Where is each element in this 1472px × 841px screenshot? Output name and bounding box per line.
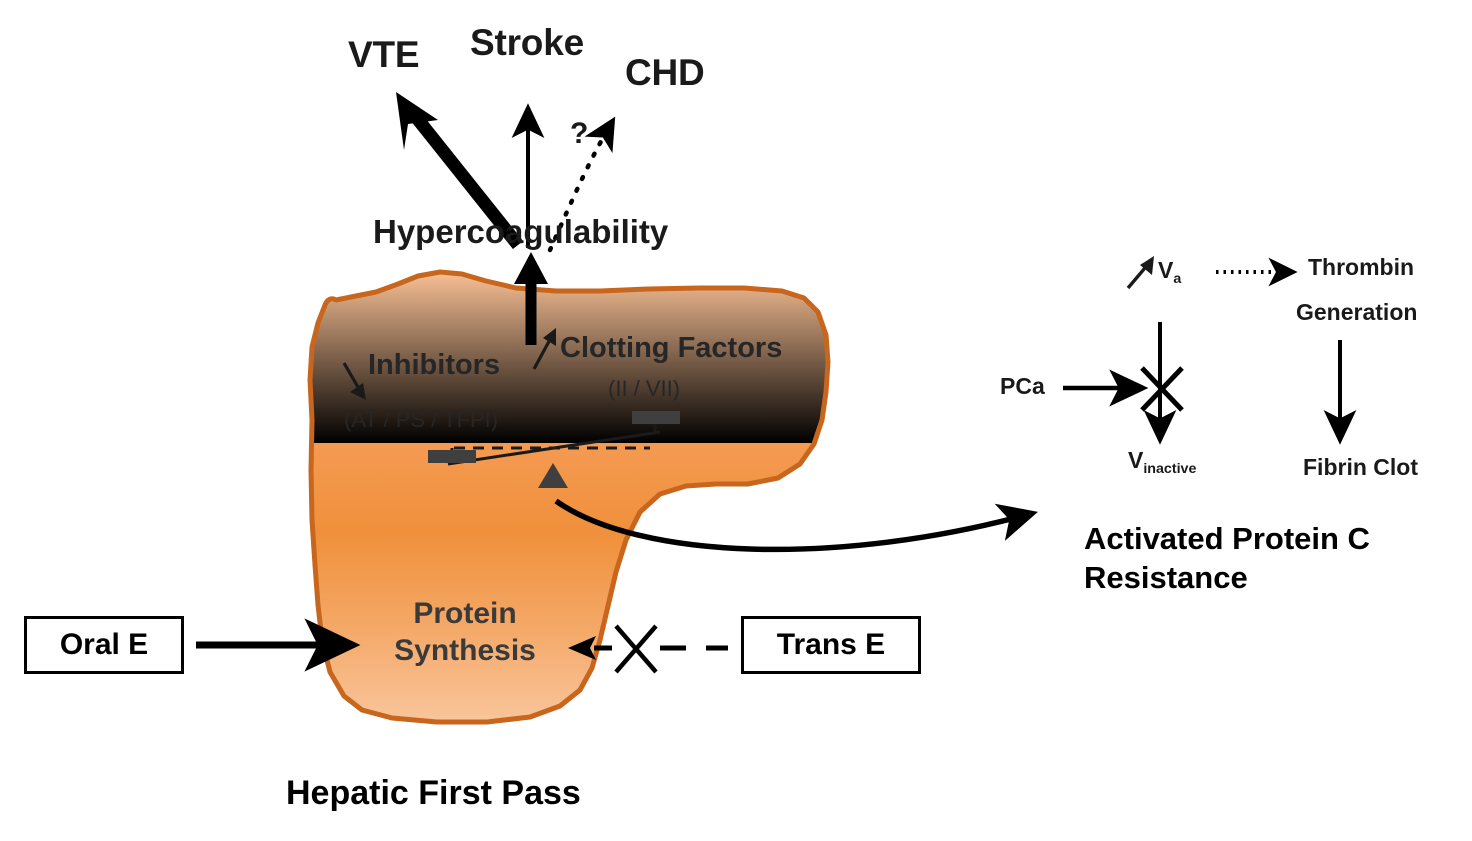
arrow-pca-to-block	[1063, 368, 1182, 410]
fibrin-clot-label: Fibrin Clot	[1303, 455, 1418, 481]
apc-resistance-line-1: Activated Protein C	[1084, 520, 1370, 559]
protein-synthesis-line-1: Protein	[375, 596, 555, 633]
outcome-label-vte: VTE	[348, 34, 419, 75]
uncertainty-question-mark: ?	[570, 117, 588, 151]
inhibitors-detail: (AT / PS / TFPI)	[344, 408, 498, 433]
apc-resistance-title: Activated Protein C Resistance	[1084, 520, 1370, 598]
hypercoagulability-label: Hypercoagulability	[373, 214, 668, 251]
input-box-oral-e[interactable]: Oral E	[24, 616, 184, 674]
va-subscript: a	[1173, 271, 1181, 287]
page-title: Hepatic First Pass	[286, 774, 581, 812]
thrombin-generation-line-1: Thrombin	[1308, 255, 1414, 281]
clotting-factors-detail: (II / VII)	[608, 377, 680, 402]
inhibitors-label: Inhibitors	[368, 349, 500, 381]
diagram-canvas: VTE Stroke CHD ? Hypercoagulability Clot…	[0, 0, 1472, 841]
input-box-trans-e[interactable]: Trans E	[741, 616, 921, 674]
thrombin-generation-line-2: Generation	[1296, 300, 1417, 326]
apc-resistance-line-2: Resistance	[1084, 559, 1370, 598]
va-base: V	[1158, 257, 1173, 283]
va-label: Va	[1158, 258, 1181, 284]
protein-synthesis-line-2: Synthesis	[375, 633, 555, 670]
va-increase-arrow	[1128, 256, 1154, 288]
v-inactive-label: Vinactive	[1128, 448, 1196, 474]
v-inactive-subscript: inactive	[1143, 461, 1196, 477]
clotting-factors-label: Clotting Factors	[560, 332, 782, 364]
outcome-label-stroke: Stroke	[470, 22, 584, 63]
pca-label: PCa	[1000, 374, 1045, 400]
protein-synthesis-label: Protein Synthesis	[375, 596, 555, 669]
diagram-vector-layer	[0, 0, 1472, 841]
outcome-label-chd: CHD	[625, 52, 705, 93]
v-inactive-base: V	[1128, 447, 1143, 473]
